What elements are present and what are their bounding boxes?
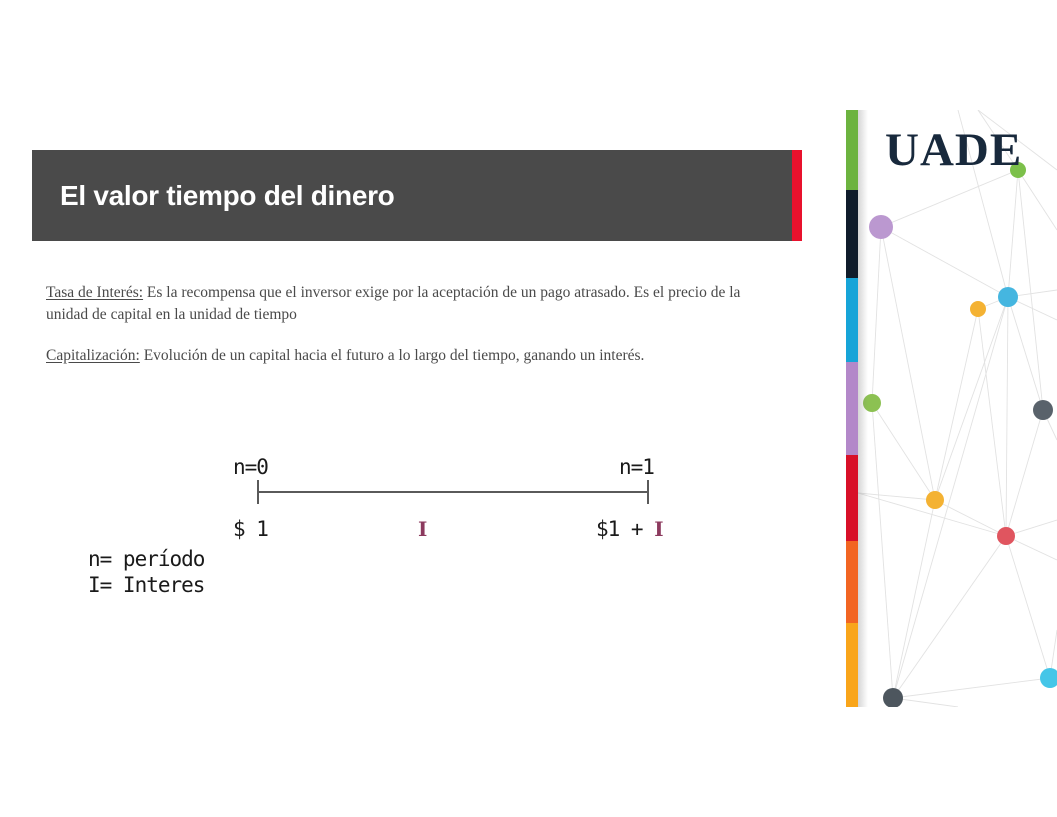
timeline-cash-start: $ 1 — [233, 517, 268, 541]
interest-symbol-end: I — [654, 517, 662, 541]
timeline-label-end: n=1 — [619, 455, 654, 479]
network-node-cyan-node — [998, 287, 1018, 307]
uade-logo: UADE — [885, 127, 1022, 174]
timeline-cash-end: $1 + I — [596, 517, 663, 541]
color-bar-segment-amber — [846, 623, 858, 707]
title-accent-bar — [792, 150, 802, 241]
color-bar-segment-lilac — [846, 362, 858, 455]
network-node-amber-node — [970, 301, 986, 317]
color-bar-segment-navy — [846, 190, 858, 278]
color-bar-segment-green — [846, 110, 858, 190]
timeline-tick-start — [257, 480, 259, 504]
color-bar-segment-cyan — [846, 278, 858, 362]
paragraph-1-text: Es la recompensa que el inversor exige p… — [46, 284, 740, 323]
network-graphic — [858, 110, 1057, 707]
paragraph-capitalizacion: Capitalización: Evolución de un capital … — [46, 345, 752, 367]
term-tasa-de-interes: Tasa de Interés: — [46, 284, 143, 301]
timeline-tick-end — [647, 480, 649, 504]
network-node-lilac-node — [869, 215, 893, 239]
network-node-cyan-node-low — [1040, 668, 1057, 688]
paragraph-tasa-de-interes: Tasa de Interés: Es la recompensa que el… — [46, 282, 752, 327]
paragraph-2-text: Evolución de un capital hacia el futuro … — [140, 347, 645, 364]
slide-title-bar: El valor tiempo del dinero — [32, 150, 802, 241]
color-bar-segment-red — [846, 455, 858, 541]
interest-symbol-middle: I — [418, 517, 426, 541]
slide-canvas: El valor tiempo del dinero Tasa de Inter… — [0, 0, 1057, 817]
brand-panel: UADE — [846, 110, 1057, 707]
color-bar-shadow — [858, 110, 868, 707]
legend-line-interest: I= Interes — [88, 572, 204, 598]
timeline-cash-end-prefix: $1 + — [596, 517, 654, 541]
term-capitalizacion: Capitalización: — [46, 347, 140, 364]
timeline-cash-middle: I — [418, 517, 426, 541]
page-title: El valor tiempo del dinero — [60, 180, 395, 212]
timeline-label-start: n=0 — [233, 455, 268, 479]
network-node-rose-node — [997, 527, 1015, 545]
network-node-slate-node-bottom — [883, 688, 903, 707]
network-node-amber-node-low — [926, 491, 944, 509]
network-node-slate-node-right — [1033, 400, 1053, 420]
legend-line-period: n= período — [88, 546, 204, 572]
network-edges — [858, 110, 1057, 707]
color-bar-segment-orange — [846, 541, 858, 623]
brand-color-bar — [846, 110, 858, 707]
diagram-legend: n= período I= Interes — [88, 546, 204, 599]
timeline-axis-line — [257, 491, 649, 493]
